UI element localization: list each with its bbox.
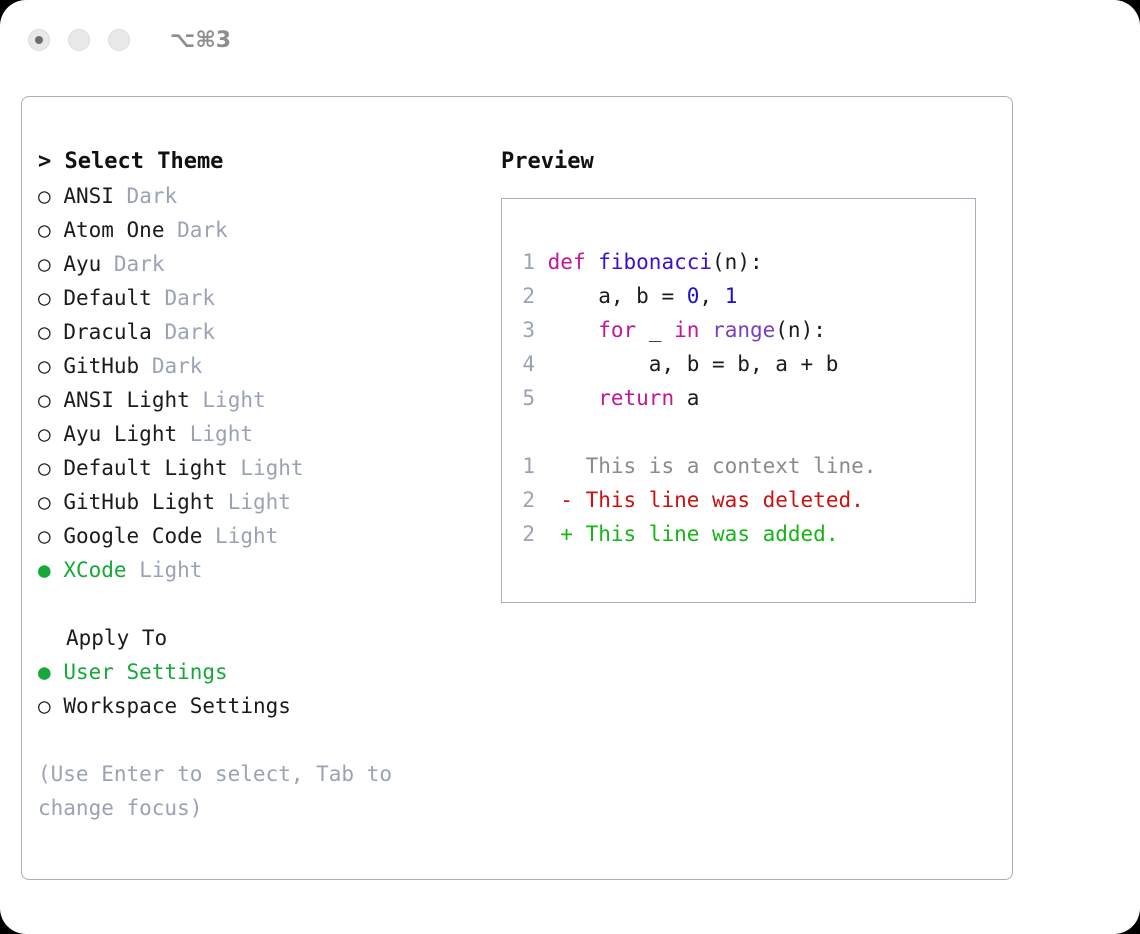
diff-text: This line was deleted. <box>573 488 864 512</box>
theme-option-default-light[interactable]: ○ Default Light Light <box>38 451 478 485</box>
line-number: 2 <box>521 279 535 313</box>
theme-option-label: Atom One <box>63 218 164 242</box>
traffic-light-group <box>28 29 130 51</box>
theme-list: ○ ANSI Dark○ Atom One Dark○ Ayu Dark○ De… <box>38 179 478 587</box>
code-token: (n): <box>775 318 826 342</box>
theme-variant-badge: Dark <box>114 252 165 276</box>
code-line: 1 def fibonacci(n): <box>521 245 975 279</box>
diff-text: This is a context line. <box>573 454 876 478</box>
theme-option-label: Ayu <box>63 252 101 276</box>
radio-selected-icon: ● <box>38 660 51 684</box>
theme-option-label: ANSI <box>63 184 114 208</box>
line-number: 1 <box>521 449 535 483</box>
code-token: 0 <box>687 284 700 308</box>
radio-unselected-icon: ○ <box>38 490 51 514</box>
theme-option-label: ANSI Light <box>63 388 189 412</box>
radio-unselected-icon: ○ <box>38 320 51 344</box>
traffic-light-active-dot <box>35 36 43 44</box>
preview-column: Preview 1 def fibonacci(n):2 a, b = 0, 1… <box>501 145 991 603</box>
theme-variant-badge: Dark <box>152 354 203 378</box>
code-token <box>548 318 599 342</box>
apply-to-option-label: User Settings <box>63 660 227 684</box>
code-token: return <box>598 386 674 410</box>
radio-unselected-icon: ○ <box>38 252 51 276</box>
theme-option-label: XCode <box>63 558 126 582</box>
line-number: 3 <box>521 313 535 347</box>
radio-selected-icon: ● <box>38 558 51 582</box>
code-token: a, b = b, a + b <box>548 352 839 376</box>
theme-option-label: Default <box>63 286 152 310</box>
code-token: for <box>598 318 636 342</box>
line-number: 1 <box>521 245 535 279</box>
code-line: 5 return a <box>521 381 975 415</box>
theme-option-dracula[interactable]: ○ Dracula Dark <box>38 315 478 349</box>
diff-line: 2 - This line was deleted. <box>521 483 975 517</box>
apply-to-list: ● User Settings○ Workspace Settings <box>38 655 478 723</box>
theme-variant-badge: Dark <box>177 218 228 242</box>
theme-option-atom-one[interactable]: ○ Atom One Dark <box>38 213 478 247</box>
radio-unselected-icon: ○ <box>38 524 51 548</box>
diff-line: 2 + This line was added. <box>521 517 975 551</box>
theme-variant-badge: Dark <box>164 286 215 310</box>
diff-text: This line was added. <box>573 522 839 546</box>
radio-unselected-icon: ○ <box>38 286 51 310</box>
theme-option-label: GitHub Light <box>63 490 215 514</box>
code-token: _ <box>636 318 674 342</box>
radio-unselected-icon: ○ <box>38 184 51 208</box>
theme-variant-badge: Light <box>202 388 265 412</box>
theme-option-google-code[interactable]: ○ Google Code Light <box>38 519 478 553</box>
apply-to-option-label: Workspace Settings <box>63 694 291 718</box>
diff-sign: - <box>560 488 573 512</box>
code-line: 2 a, b = 0, 1 <box>521 279 975 313</box>
spacer <box>38 587 478 621</box>
spacer <box>521 415 975 449</box>
app-window: ⌥⌘3 > Select Theme ○ ANSI Dark○ Atom One… <box>0 0 1140 934</box>
diff-sign <box>560 454 573 478</box>
line-number: 2 <box>521 517 535 551</box>
line-number: 5 <box>521 381 535 415</box>
radio-unselected-icon: ○ <box>38 456 51 480</box>
traffic-light-3-icon[interactable] <box>108 29 130 51</box>
theme-variant-badge: Light <box>240 456 303 480</box>
radio-unselected-icon: ○ <box>38 422 51 446</box>
line-number: 2 <box>521 483 535 517</box>
theme-option-github-light[interactable]: ○ GitHub Light Light <box>38 485 478 519</box>
theme-picker-column: > Select Theme ○ ANSI Dark○ Atom One Dar… <box>38 145 478 825</box>
code-token: a <box>674 386 699 410</box>
theme-option-ayu[interactable]: ○ Ayu Dark <box>38 247 478 281</box>
traffic-light-1-icon[interactable] <box>28 29 50 51</box>
code-token: (n): <box>712 250 763 274</box>
keyboard-hint-text: (Use Enter to select, Tab to change focu… <box>38 757 438 825</box>
theme-variant-badge: Dark <box>164 320 215 344</box>
theme-option-label: GitHub <box>63 354 139 378</box>
apply-to-label: Apply To <box>38 621 478 655</box>
code-sample: 1 def fibonacci(n):2 a, b = 0, 13 for _ … <box>521 245 975 415</box>
diff-sample: 1 This is a context line.2 - This line w… <box>521 449 975 551</box>
radio-unselected-icon: ○ <box>38 218 51 242</box>
select-theme-heading: > Select Theme <box>38 145 478 179</box>
apply-to-option-user-settings[interactable]: ● User Settings <box>38 655 478 689</box>
radio-unselected-icon: ○ <box>38 388 51 412</box>
code-token: def <box>548 250 599 274</box>
diff-sign: + <box>560 522 573 546</box>
traffic-light-2-icon[interactable] <box>68 29 90 51</box>
code-token: in <box>674 318 699 342</box>
theme-variant-badge: Dark <box>127 184 178 208</box>
code-token <box>699 318 712 342</box>
code-token: , <box>699 284 724 308</box>
diff-line: 1 This is a context line. <box>521 449 975 483</box>
code-token <box>548 386 599 410</box>
theme-variant-badge: Light <box>139 558 202 582</box>
code-line: 4 a, b = b, a + b <box>521 347 975 381</box>
theme-variant-badge: Light <box>215 524 278 548</box>
main-panel: > Select Theme ○ ANSI Dark○ Atom One Dar… <box>21 96 1013 880</box>
radio-unselected-icon: ○ <box>38 694 51 718</box>
radio-unselected-icon: ○ <box>38 354 51 378</box>
theme-option-ansi-light[interactable]: ○ ANSI Light Light <box>38 383 478 417</box>
code-token: fibonacci <box>598 250 712 274</box>
theme-option-label: Ayu Light <box>63 422 177 446</box>
theme-option-github[interactable]: ○ GitHub Dark <box>38 349 478 383</box>
theme-variant-badge: Light <box>190 422 253 446</box>
theme-option-label: Google Code <box>63 524 202 548</box>
theme-variant-badge: Light <box>228 490 291 514</box>
title-bar: ⌥⌘3 <box>0 0 1140 80</box>
code-token: a, b = <box>548 284 687 308</box>
theme-option-default[interactable]: ○ Default Dark <box>38 281 478 315</box>
theme-option-ansi[interactable]: ○ ANSI Dark <box>38 179 478 213</box>
theme-option-xcode[interactable]: ● XCode Light <box>38 553 478 587</box>
preview-title: Preview <box>501 145 991 179</box>
preview-box: 1 def fibonacci(n):2 a, b = 0, 13 for _ … <box>501 198 976 603</box>
apply-to-option-workspace-settings[interactable]: ○ Workspace Settings <box>38 689 478 723</box>
keyboard-shortcut-label: ⌥⌘3 <box>170 28 231 53</box>
code-line: 3 for _ in range(n): <box>521 313 975 347</box>
code-token: 1 <box>725 284 738 308</box>
code-token: range <box>712 318 775 342</box>
theme-option-label: Default Light <box>63 456 227 480</box>
line-number: 4 <box>521 347 535 381</box>
theme-option-ayu-light[interactable]: ○ Ayu Light Light <box>38 417 478 451</box>
theme-option-label: Dracula <box>63 320 152 344</box>
